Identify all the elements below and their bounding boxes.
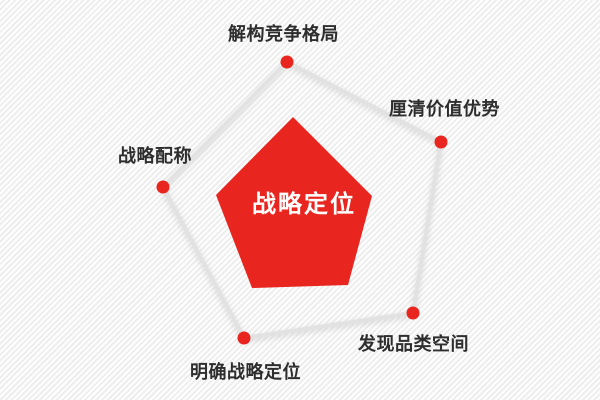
node-label-lower-right: 发现品类空间 [358, 336, 469, 354]
node-label-lower-left: 明确战略定位 [190, 364, 301, 382]
node-dot-top[interactable] [281, 56, 294, 69]
node-label-upper-right: 厘清价值优势 [389, 101, 500, 119]
node-dot-lower-left[interactable] [238, 332, 251, 345]
node-label-top: 解构竞争格局 [228, 26, 339, 44]
node-dot-upper-right[interactable] [435, 136, 448, 149]
node-dot-lower-right[interactable] [407, 307, 420, 320]
diagram-canvas: 解构竞争格局 厘清价值优势 发现品类空间 明确战略定位 战略配称 战略定位 [0, 0, 600, 400]
center-label: 战略定位 [4, 192, 600, 216]
node-label-left: 战略配称 [118, 148, 192, 166]
